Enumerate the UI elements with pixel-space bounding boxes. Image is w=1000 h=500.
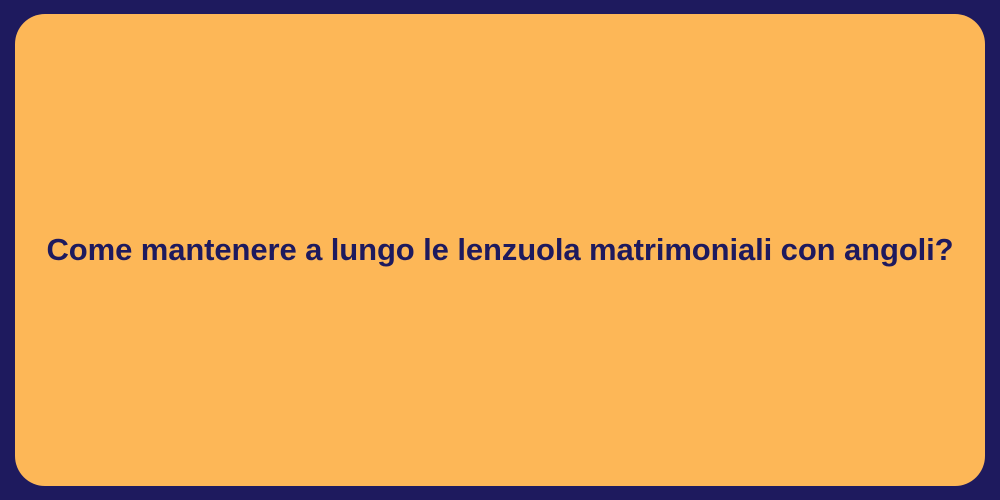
page-title: Come mantenere a lungo le lenzuola matri… (46, 231, 953, 270)
card-frame: Come mantenere a lungo le lenzuola matri… (0, 0, 1000, 500)
card-panel: Come mantenere a lungo le lenzuola matri… (15, 14, 985, 486)
